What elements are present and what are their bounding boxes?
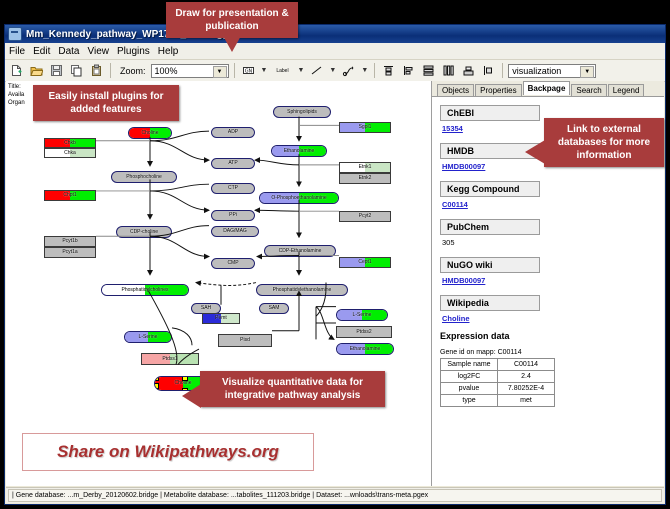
- menu-view[interactable]: View: [87, 46, 109, 57]
- save-icon[interactable]: [48, 62, 65, 79]
- chevron-down-icon[interactable]: ▼: [296, 67, 305, 74]
- db-section-wikipedia: Wikipedia Choline: [440, 293, 658, 323]
- node-phosphatidylcholines-fill-right: [145, 285, 188, 295]
- gene-pemt-fill-left: [203, 314, 221, 323]
- gene-etnk2-label: Etnk2: [359, 176, 372, 181]
- node-phosphatidylethanolamine[interactable]: Phosphatidylethanolamine: [256, 284, 348, 296]
- pathway-canvas[interactable]: Title: Availa Organ: [6, 81, 431, 486]
- callout-draw: Draw for presentation & publication: [166, 2, 298, 38]
- db-link-kegg[interactable]: C00114: [442, 200, 658, 209]
- chevron-down-icon[interactable]: ▼: [580, 66, 594, 78]
- table-row: Sample name C00114: [441, 359, 555, 371]
- tab-legend[interactable]: Legend: [608, 84, 645, 96]
- visualization-value: visualization: [512, 66, 561, 76]
- node-ppi-label: PPi: [229, 213, 237, 218]
- align-top-icon[interactable]: [380, 62, 397, 79]
- selection-handle[interactable]: [154, 376, 159, 381]
- db-section-kegg: Kegg Compound C00114: [440, 179, 658, 209]
- db-header-wikipedia: Wikipedia: [440, 295, 540, 311]
- node-cmp[interactable]: CMP: [211, 258, 255, 269]
- expression-data-title: Expression data: [440, 331, 658, 341]
- node-o-phosphoethanolamine[interactable]: O-Phosphoethanolamine: [259, 192, 339, 204]
- selection-handle[interactable]: [182, 376, 188, 381]
- new-icon[interactable]: [8, 62, 25, 79]
- chevron-down-icon[interactable]: ▼: [328, 67, 337, 74]
- same-height-icon[interactable]: [480, 62, 497, 79]
- toolbar-separator: [110, 63, 111, 78]
- node-ethanolamine-right[interactable]: Ethanolamine: [336, 343, 394, 355]
- svg-text:GN: GN: [244, 68, 252, 74]
- node-sah-label: SAH: [201, 306, 211, 311]
- screenshot-root: Mm_Kennedy_pathway_WP1771_45176.gpml Fil…: [0, 0, 670, 509]
- gene-sgpl1[interactable]: Sgpl1: [339, 122, 391, 133]
- tab-search[interactable]: Search: [571, 84, 606, 96]
- gene-chpt1-fill-right: [70, 191, 95, 200]
- expression-table: Sample name C00114 log2FC 2.4 pvalue 7.8…: [440, 358, 555, 407]
- node-lserine-right-fill-right: [362, 310, 387, 320]
- gene-chkb-fill-right: [70, 139, 95, 147]
- gene-ptdss1-fill-right: [170, 354, 198, 364]
- tab-backpage[interactable]: Backpage: [523, 81, 571, 95]
- gene-pcyt1b-label: Pcyt1b: [62, 239, 77, 244]
- menu-data[interactable]: Data: [58, 46, 79, 57]
- gene-chkb-fill-left: [45, 139, 70, 147]
- node-sphingolipids[interactable]: Sphingolipids: [273, 106, 331, 118]
- window-titlebar: Mm_Kennedy_pathway_WP1771_45176.gpml: [5, 25, 665, 43]
- chevron-down-icon[interactable]: ▼: [260, 67, 269, 74]
- gene-id-line: Gene id on mapp: C00114: [440, 349, 658, 356]
- side-panel-tabs[interactable]: Objects Properties Backpage Search Legen…: [432, 81, 664, 97]
- db-value-pubchem: 305: [442, 238, 658, 247]
- status-bar: | Gene database: ...m_Derby_20120602.bri…: [6, 487, 664, 503]
- table-row: pvalue 7.80252E-4: [441, 383, 555, 395]
- db-section-pubchem: PubChem 305: [440, 217, 658, 247]
- toolbar-separator: [374, 63, 375, 78]
- meta-available-line: Availa: [8, 91, 25, 99]
- expr-val-sample-name: C00114: [498, 359, 555, 371]
- expr-key-pvalue: pvalue: [441, 383, 498, 395]
- gene-pcyt2[interactable]: Pcyt2: [339, 211, 391, 222]
- node-choline-top[interactable]: Choline: [128, 127, 172, 139]
- share-banner: Share on Wikipathways.org: [22, 433, 314, 471]
- callout-draw-tail: [222, 34, 242, 52]
- node-lserine-left-fill-right: [148, 332, 171, 342]
- node-cdp-choline[interactable]: CDP-choline: [116, 226, 172, 238]
- node-cmp-label: CMP: [227, 261, 238, 266]
- gene-ptdss2-label: Ptdss2: [356, 330, 371, 335]
- gene-sgpl1-fill-left: [340, 123, 365, 132]
- gene-sgpl1-fill-right: [365, 123, 390, 132]
- db-section-nugo: NuGO wiki HMDB00097: [440, 255, 658, 285]
- node-sphingolipids-label: Sphingolipids: [287, 110, 317, 115]
- node-choline-top-fill-left: [129, 128, 150, 138]
- label-icon[interactable]: Label: [271, 62, 293, 79]
- expr-val-pvalue: 7.80252E-4: [498, 383, 555, 395]
- label-button-text: Label: [276, 68, 288, 74]
- expr-key-type: type: [441, 395, 498, 407]
- gene-ptdss1[interactable]: Ptdss1: [141, 353, 199, 365]
- toolbar-separator: [234, 63, 235, 78]
- pathway-meta: Title: Availa Organ: [8, 83, 25, 107]
- node-atp-label: ATP: [228, 161, 237, 166]
- node-dagmag[interactable]: DAG/MAG: [211, 226, 259, 237]
- gene-cept1-fill-right: [365, 258, 390, 267]
- node-choline-top-fill-right: [150, 128, 171, 138]
- chevron-down-icon[interactable]: ▼: [213, 66, 227, 78]
- gene-pemt-fill-right: [221, 314, 239, 323]
- node-ethanolamine-right-fill-right: [365, 344, 393, 354]
- db-header-chebi: ChEBI: [440, 105, 540, 121]
- pathvisio-window: Mm_Kennedy_pathway_WP1771_45176.gpml Fil…: [4, 24, 666, 505]
- menu-plugins[interactable]: Plugins: [117, 46, 150, 57]
- callout-visualize-tail-left: [182, 384, 201, 408]
- node-ppi[interactable]: PPi: [211, 210, 255, 221]
- node-o-phosphoethanolamine-fill-left: [260, 193, 299, 203]
- datanode-icon[interactable]: GN: [240, 62, 257, 79]
- expr-val-type: met: [498, 395, 555, 407]
- gene-pemt[interactable]: Pemt: [202, 313, 240, 324]
- gene-etnk1[interactable]: Etnk1: [339, 162, 391, 173]
- node-phosphatidylcholines[interactable]: Phosphatidylcholines: [101, 284, 189, 296]
- node-phosphatidylethanolamine-label: Phosphatidylethanolamine: [273, 288, 332, 293]
- menu-file[interactable]: File: [9, 46, 25, 57]
- status-text: | Gene database: ...m_Derby_20120602.bri…: [8, 489, 662, 502]
- distribute-vertical-icon[interactable]: [420, 62, 437, 79]
- line-icon[interactable]: [308, 62, 325, 79]
- db-link-nugo[interactable]: HMDB00097: [442, 276, 658, 285]
- visualization-combo[interactable]: visualization ▼: [508, 64, 596, 78]
- expr-key-sample-name: Sample name: [441, 359, 498, 371]
- node-ctp[interactable]: CTP: [211, 183, 255, 194]
- meta-organism-line: Organ: [8, 99, 25, 107]
- gene-pcyt1a[interactable]: Pcyt1a: [44, 247, 96, 258]
- node-cdp-ethanolamine-label: CDP-Ethanolamine: [279, 249, 322, 254]
- align-left-icon[interactable]: [400, 62, 417, 79]
- anchor-icon[interactable]: [340, 62, 357, 79]
- db-header-pubchem: PubChem: [440, 219, 540, 235]
- gene-ptdss2[interactable]: Ptdss2: [336, 326, 392, 338]
- node-ethanolamine-top-fill-right: [299, 146, 326, 156]
- gene-chka-fill-left: [45, 149, 70, 157]
- gene-etnk1-fill-right: [365, 163, 390, 172]
- db-header-kegg: Kegg Compound: [440, 181, 540, 197]
- menu-edit[interactable]: Edit: [33, 46, 50, 57]
- gene-chkb[interactable]: Chkb: [44, 138, 96, 148]
- node-lserine-right[interactable]: L-Serine: [336, 309, 388, 321]
- zoom-label: Zoom:: [120, 66, 146, 76]
- gene-chpt1-fill-left: [45, 191, 70, 200]
- app-icon: [8, 27, 22, 41]
- db-header-nugo: NuGO wiki: [440, 257, 540, 273]
- callout-links: Link to external databases for more info…: [544, 118, 664, 167]
- gene-pcyt2-label: Pcyt2: [359, 214, 372, 219]
- table-row: log2FC 2.4: [441, 371, 555, 383]
- gene-pisd-label: Pisd: [240, 338, 250, 343]
- tab-properties[interactable]: Properties: [475, 84, 521, 96]
- node-ethanolamine-right-fill-left: [337, 344, 365, 354]
- menu-bar[interactable]: File Edit Data View Plugins Help: [5, 43, 665, 60]
- node-phosphocholine-label: Phosphocholine: [126, 175, 162, 180]
- expr-key-log2fc: log2FC: [441, 371, 498, 383]
- node-sam[interactable]: SAM: [259, 303, 289, 314]
- node-cdp-ethanolamine[interactable]: CDP-Ethanolamine: [264, 245, 336, 257]
- callout-visualize: Visualize quantitative data for integrat…: [200, 371, 385, 407]
- db-link-wikipedia[interactable]: Choline: [442, 314, 658, 323]
- menu-help[interactable]: Help: [158, 46, 179, 57]
- gene-pisd[interactable]: Pisd: [218, 334, 272, 347]
- node-dagmag-label: DAG/MAG: [223, 229, 247, 234]
- toolbar-separator: [502, 63, 503, 78]
- gene-chka-fill-right: [70, 149, 95, 157]
- pathway-canvas-panel[interactable]: Title: Availa Organ: [6, 81, 432, 486]
- node-ethanolamine-top[interactable]: Ethanolamine: [271, 145, 327, 157]
- node-o-phosphoethanolamine-fill-right: [299, 193, 338, 203]
- node-lserine-left[interactable]: L-Serine: [124, 331, 172, 343]
- gene-chpt1[interactable]: Chpt1: [44, 190, 96, 201]
- node-choline-selected-fill-left: [155, 377, 183, 390]
- expr-val-log2fc: 2.4: [498, 371, 555, 383]
- callout-plugins: Easily install plugins for added feature…: [33, 85, 179, 121]
- node-lserine-right-fill-left: [337, 310, 362, 320]
- distribute-horizontal-icon[interactable]: [440, 62, 457, 79]
- meta-title-line: Title:: [8, 83, 25, 91]
- gene-chka[interactable]: Chka: [44, 148, 96, 158]
- main-toolbar: Zoom: 100% ▼ GN ▼ Label ▼ ▼ ▼: [5, 60, 665, 82]
- gene-pcyt1b[interactable]: Pcyt1b: [44, 236, 96, 247]
- tab-objects[interactable]: Objects: [437, 84, 474, 96]
- table-row: type met: [441, 395, 555, 407]
- node-adp[interactable]: ADP: [211, 127, 255, 138]
- zoom-combo[interactable]: 100% ▼: [151, 64, 229, 78]
- node-phosphatidylcholines-fill-left: [102, 285, 145, 295]
- node-lserine-left-fill-left: [125, 332, 148, 342]
- node-phosphocholine[interactable]: Phosphocholine: [111, 171, 177, 183]
- node-adp-label: ADP: [228, 130, 238, 135]
- chevron-down-icon[interactable]: ▼: [360, 67, 369, 74]
- node-atp[interactable]: ATP: [211, 158, 255, 169]
- open-icon[interactable]: [28, 62, 45, 79]
- gene-etnk1-fill-left: [340, 163, 365, 172]
- gene-etnk2[interactable]: Etnk2: [339, 173, 391, 184]
- paste-icon[interactable]: [88, 62, 105, 79]
- gene-pcyt1a-label: Pcyt1a: [62, 250, 77, 255]
- node-cdp-choline-label: CDP-choline: [130, 230, 158, 235]
- copy-icon[interactable]: [68, 62, 85, 79]
- node-ctp-label: CTP: [228, 186, 238, 191]
- callout-links-tail: [525, 140, 545, 164]
- node-ethanolamine-top-fill-left: [272, 146, 299, 156]
- zoom-value: 100%: [155, 66, 178, 76]
- gene-cept1-fill-left: [340, 258, 365, 267]
- gene-ptdss1-fill-left: [142, 354, 170, 364]
- same-width-icon[interactable]: [460, 62, 477, 79]
- node-sam-label: SAM: [269, 306, 280, 311]
- selection-handle[interactable]: [154, 388, 159, 391]
- gene-cept1[interactable]: Cept1: [339, 257, 391, 268]
